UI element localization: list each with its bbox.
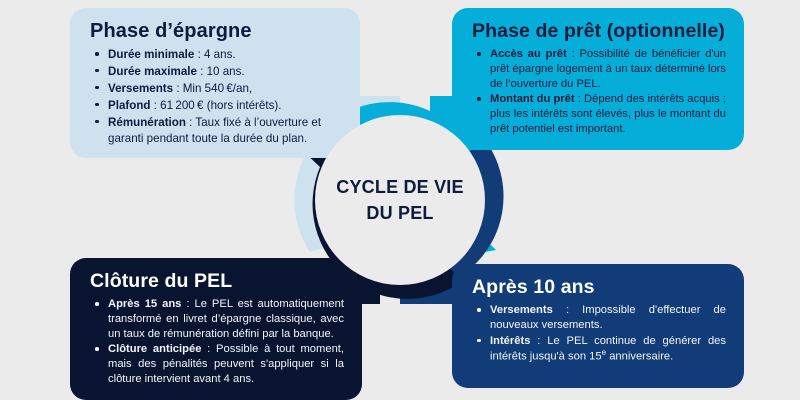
item-text: : 4 ans. — [194, 48, 235, 61]
item-label: Plafond — [108, 99, 151, 112]
card-list-epargne: Durée minimale : 4 ans. Durée maximale :… — [90, 47, 344, 147]
list-item: Après 15 ans : Le PEL est automatiquemen… — [106, 297, 344, 341]
card-phase-pret: Phase de prêt (optionnelle) Accès au prê… — [452, 8, 744, 150]
card-list-pret: Accès au prêt : Possibilité de bénéficie… — [472, 47, 726, 137]
cycle-title-line2: DU PEL — [366, 200, 433, 226]
item-label: Intérêts — [490, 335, 530, 347]
item-label: Après 15 ans — [108, 298, 181, 310]
item-label: Versements — [490, 304, 553, 316]
list-item: Versements : Min 540 €/an, — [106, 81, 344, 97]
item-text: : Min 540 €/an, — [173, 82, 252, 95]
list-item: Versements : Impossible d'effectuer de n… — [488, 303, 726, 333]
card-apres-10-ans: Après 10 ans Versements : Impossible d'e… — [452, 264, 744, 388]
item-label: Clôture anticipée — [108, 343, 201, 355]
card-title-pret: Phase de prêt (optionnelle) — [472, 20, 726, 43]
list-item: Plafond : 61 200 € (hors intérêts). — [106, 98, 344, 114]
list-item: Accès au prêt : Possibilité de bénéficie… — [488, 47, 726, 91]
card-phase-epargne: Phase d’épargne Durée minimale : 4 ans. … — [70, 8, 360, 158]
item-label: Accès au prêt — [490, 48, 567, 60]
card-title-apres: Après 10 ans — [472, 276, 726, 299]
item-label: Durée minimale — [108, 48, 194, 61]
list-item: Clôture anticipée : Possible à tout mome… — [106, 342, 344, 386]
item-text: : 10 ans. — [197, 65, 245, 78]
item-label: Rémunération — [108, 116, 186, 129]
cycle-center-label: CYCLE DE VIE DU PEL — [315, 115, 485, 285]
list-item: Durée maximale : 10 ans. — [106, 64, 344, 80]
item-label: Durée maximale — [108, 65, 197, 78]
item-text-b: anniversaire. — [606, 351, 673, 363]
cycle-title-line1: CYCLE DE VIE — [336, 174, 463, 200]
item-text: : 61 200 € (hors intérêts). — [151, 99, 282, 112]
card-title-cloture: Clôture du PEL — [90, 270, 344, 293]
item-label: Montant du prêt — [490, 93, 575, 105]
card-list-apres: Versements : Impossible d'effectuer de n… — [472, 303, 726, 365]
list-item: Rémunération : Taux fixé à l’ouverture e… — [106, 115, 344, 147]
list-item: Intérêts : Le PEL continue de générer de… — [488, 334, 726, 365]
card-list-cloture: Après 15 ans : Le PEL est automatiquemen… — [90, 297, 344, 387]
list-item: Durée minimale : 4 ans. — [106, 47, 344, 63]
list-item: Montant du prêt : Dépend des intérêts ac… — [488, 92, 726, 136]
card-cloture-pel: Clôture du PEL Après 15 ans : Le PEL est… — [70, 258, 362, 400]
item-label: Versements — [108, 82, 173, 95]
infographic-canvas: CYCLE DE VIE DU PEL Phase d’épargne Duré… — [0, 0, 800, 400]
card-title-epargne: Phase d’épargne — [90, 20, 344, 43]
